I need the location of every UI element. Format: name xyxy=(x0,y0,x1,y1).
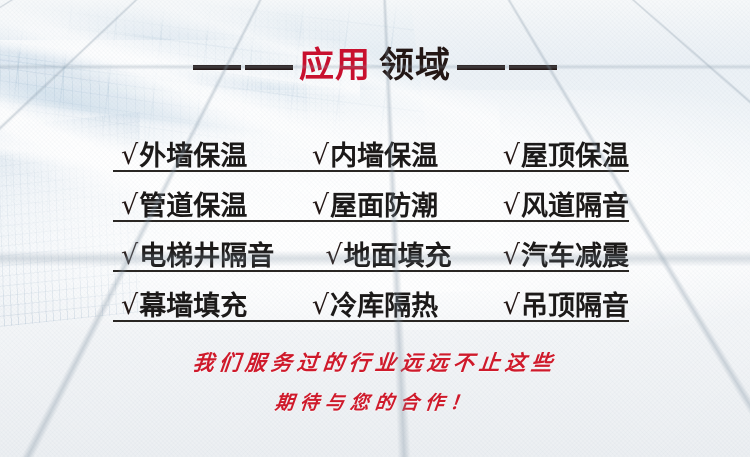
list-item-roof-moisture-proofing[interactable]: √ 屋面防潮 xyxy=(312,184,438,223)
title-dash-left-2 xyxy=(245,65,293,70)
list-item-pipeline-insulation[interactable]: √ 管道保温 xyxy=(121,184,247,223)
check-icon: √ xyxy=(121,190,138,221)
row-divider xyxy=(113,270,629,272)
check-icon: √ xyxy=(503,290,520,321)
page-title: 应用 领域 xyxy=(0,44,750,88)
list-item-label: 幕墙填充 xyxy=(139,284,247,323)
page-title-black-text: 领域 xyxy=(379,49,451,84)
list-item-label: 外墙保温 xyxy=(139,134,247,173)
list-item-label: 地面填充 xyxy=(344,234,452,273)
list-item-floor-filling[interactable]: √ 地面填充 xyxy=(325,234,451,273)
title-dashes-left xyxy=(191,64,295,69)
list-item-curtain-wall-filling[interactable]: √ 幕墙填充 xyxy=(121,284,247,323)
application-row-1: √ 外墙保温 √ 内墙保温 √ 屋顶保温 xyxy=(121,132,629,182)
list-item-label: 屋面防潮 xyxy=(330,184,438,223)
list-item-exterior-wall-insulation[interactable]: √ 外墙保温 xyxy=(121,134,247,173)
title-dash-left-1 xyxy=(193,65,241,70)
list-item-label: 吊顶隔音 xyxy=(521,284,629,323)
title-dashes-right xyxy=(455,64,559,69)
check-icon: √ xyxy=(121,240,138,271)
application-fields-list: √ 外墙保温 √ 内墙保温 √ 屋顶保温 xyxy=(0,132,750,332)
list-item-label: 风道隔音 xyxy=(521,184,629,223)
application-row-2: √ 管道保温 √ 屋面防潮 √ 风道隔音 xyxy=(121,182,629,232)
row-divider xyxy=(113,170,629,172)
check-icon: √ xyxy=(503,190,520,221)
list-item-label: 冷库隔热 xyxy=(330,284,438,323)
footer-slogan-line-1: 我们服务过的行业远远不止这些 xyxy=(0,352,750,373)
list-item-interior-wall-insulation[interactable]: √ 内墙保温 xyxy=(312,134,438,173)
list-item-label: 管道保温 xyxy=(139,184,247,223)
list-item-label: 电梯井隔音 xyxy=(139,234,274,273)
title-dash-right-2 xyxy=(509,65,557,70)
application-row-4: √ 幕墙填充 √ 冷库隔热 √ 吊顶隔音 xyxy=(121,282,629,332)
check-icon: √ xyxy=(503,140,520,171)
title-dash-right-1 xyxy=(457,65,505,70)
list-item-label: 汽车减震 xyxy=(521,234,629,273)
check-icon: √ xyxy=(121,140,138,171)
list-item-roof-insulation[interactable]: √ 屋顶保温 xyxy=(503,134,629,173)
banner-content: 应用 领域 √ 外墙保温 √ 内墙保温 xyxy=(0,0,750,457)
footer-slogan: 我们服务过的行业远远不止这些 期待与您的合作！ xyxy=(0,352,750,413)
list-item-cold-storage-insulation[interactable]: √ 冷库隔热 xyxy=(312,284,438,323)
application-row-3: √ 电梯井隔音 √ 地面填充 √ 汽车减震 xyxy=(121,232,629,282)
footer-slogan-line-2: 期待与您的合作！ xyxy=(0,394,750,413)
list-item-automotive-shock-absorption[interactable]: √ 汽车减震 xyxy=(503,234,629,273)
list-item-label: 内墙保温 xyxy=(330,134,438,173)
list-item-air-duct-soundproofing[interactable]: √ 风道隔音 xyxy=(503,184,629,223)
page-title-red-text: 应用 xyxy=(299,49,371,84)
check-icon: √ xyxy=(312,140,329,171)
list-item-elevator-shaft-soundproofing[interactable]: √ 电梯井隔音 xyxy=(121,234,274,273)
list-item-label: 屋顶保温 xyxy=(521,134,629,173)
check-icon: √ xyxy=(503,240,520,271)
list-item-suspended-ceiling-soundproofing[interactable]: √ 吊顶隔音 xyxy=(503,284,629,323)
check-icon: √ xyxy=(312,290,329,321)
row-divider xyxy=(113,220,629,222)
check-icon: √ xyxy=(325,240,342,271)
check-icon: √ xyxy=(312,190,329,221)
check-icon: √ xyxy=(121,290,138,321)
application-fields-banner: 应用 领域 √ 外墙保温 √ 内墙保温 xyxy=(0,0,750,457)
row-divider xyxy=(113,320,629,322)
